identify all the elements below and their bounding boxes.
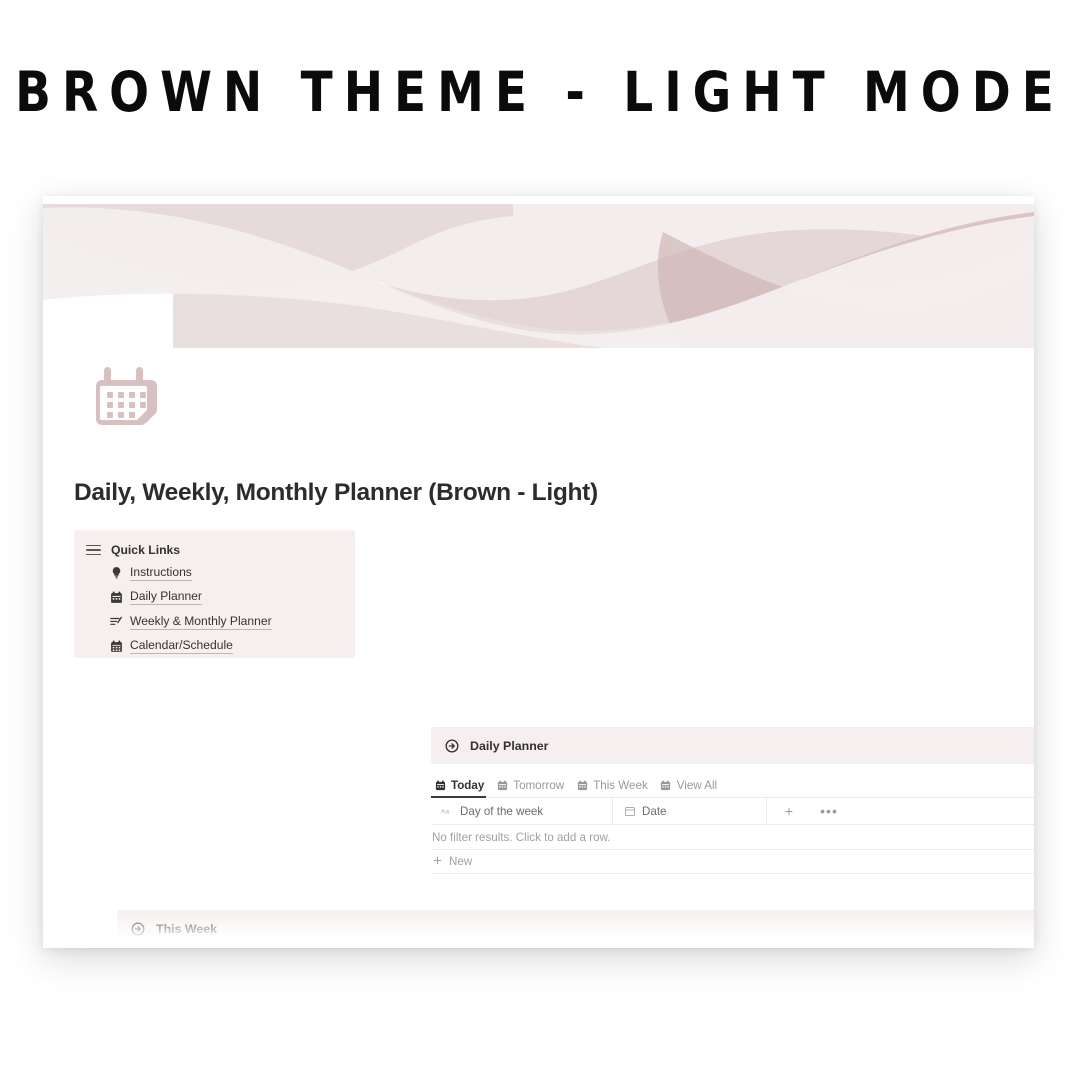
daily-planner-tabbar: Today Tomorrow [431,774,1034,798]
date-icon [623,805,636,818]
calendar-grid-icon [109,639,123,653]
this-week-section-header[interactable]: This Week [117,910,1034,948]
quick-link-daily-planner[interactable]: Daily Planner [74,586,355,610]
plus-icon [432,855,443,869]
database-empty-state[interactable]: No filter results. Click to add a row. [431,825,1034,850]
daily-planner-database: Today Tomorrow [431,774,1034,874]
calendar-day-icon [434,780,446,792]
arrow-circle-right-icon [445,739,459,753]
column-day-of-the-week[interactable]: Aa Day of the week [431,798,613,825]
cover-banner [43,196,1034,348]
tab-label: Tomorrow [513,779,564,792]
calendar-day-icon [660,780,672,792]
database-column-header-row: Aa Day of the week Date + ••• [431,798,1034,825]
page-title: Daily, Weekly, Monthly Planner (Brown - … [74,479,598,507]
quick-link-label: Instructions [130,565,192,581]
column-label: Day of the week [460,805,543,818]
quick-link-weekly-monthly-planner[interactable]: Weekly & Monthly Planner [74,610,355,634]
quick-link-label: Daily Planner [130,589,202,605]
calendar-day-icon [496,780,508,792]
tab-label: Today [451,779,484,792]
tab-tomorrow[interactable]: Tomorrow [493,779,573,797]
calendar-icon [88,356,166,434]
quick-link-label: Calendar/Schedule [130,638,233,654]
tab-label: This Week [593,779,648,792]
arrow-circle-right-icon [131,922,145,936]
quick-links-heading: Quick Links [111,543,180,557]
tab-today[interactable]: Today [431,779,493,797]
new-row-label: New [449,855,472,868]
notion-page-card: Daily, Weekly, Monthly Planner (Brown - … [43,196,1034,948]
daily-planner-section-header[interactable]: Daily Planner [431,727,1034,764]
this-week-heading: This Week [156,922,217,936]
calendar-day-icon [109,590,123,604]
poster-title: BROWN THEME - LIGHT MODE [0,0,1080,202]
column-label: Date [642,805,667,818]
text-aa-icon: Aa [441,805,454,818]
calendar-day-icon [576,780,588,792]
quick-link-calendar-schedule[interactable]: Calendar/Schedule [74,635,355,659]
tab-view-all[interactable]: View All [657,779,726,797]
tab-label: View All [677,779,717,792]
daily-planner-heading: Daily Planner [470,739,549,753]
quick-links-header: Quick Links [74,540,355,560]
column-options-button[interactable]: ••• [811,803,847,819]
add-column-button[interactable]: + [767,803,811,819]
page-icon [88,356,166,434]
hamburger-icon [86,545,101,556]
cover-waves-graphic [43,196,1034,348]
svg-text:Aa: Aa [441,808,449,815]
edit-list-icon [109,615,123,629]
quick-link-label: Weekly & Monthly Planner [130,614,272,630]
quick-links-panel: Quick Links Instructions [74,530,355,658]
tab-this-week[interactable]: This Week [573,779,657,797]
add-new-row-button[interactable]: New [431,850,1034,874]
quick-link-instructions[interactable]: Instructions [74,561,355,585]
column-date[interactable]: Date [613,798,767,825]
lightbulb-icon [109,566,123,580]
